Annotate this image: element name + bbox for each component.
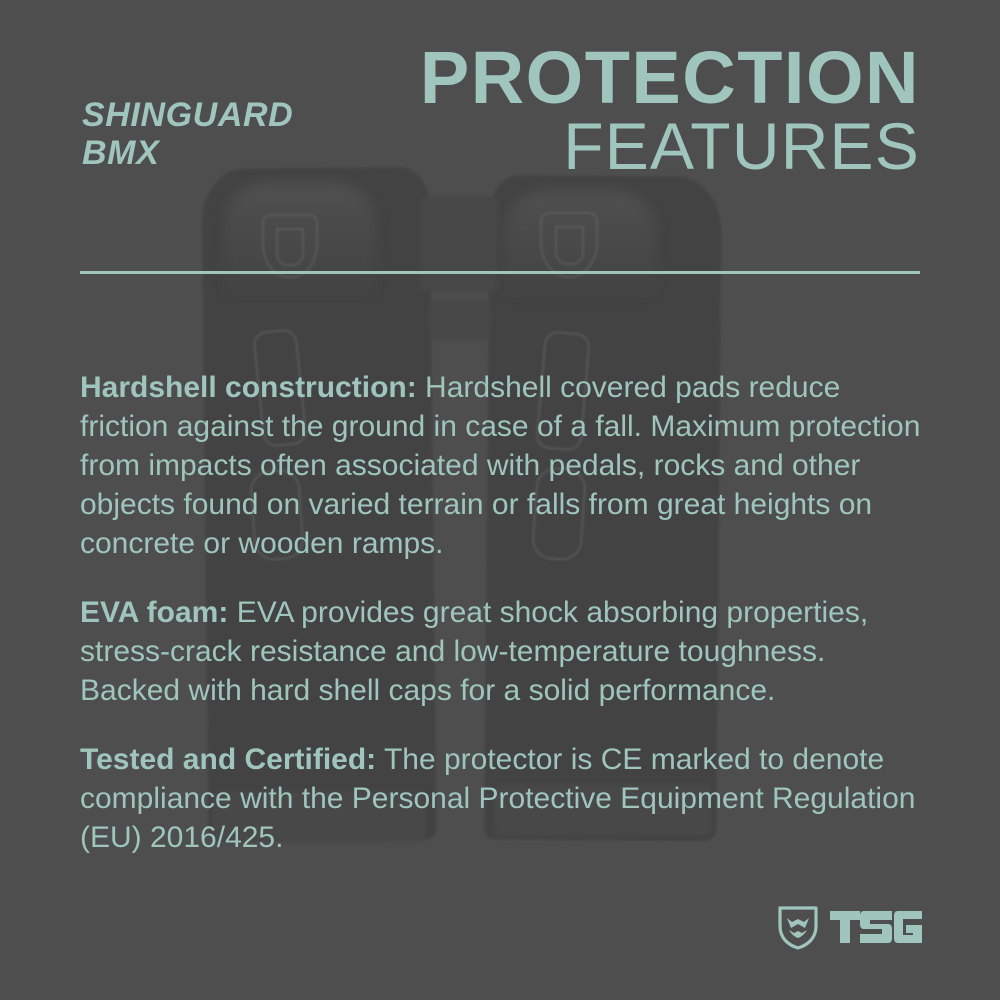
feature-term: Tested and Certified: [80,743,376,776]
tsg-shield-cat-icon [777,904,819,950]
protection-features-poster: SHINGUARD BMX PROTECTION FEATURES Hardsh… [0,0,1000,1000]
page-title: PROTECTION FEATURES [420,44,920,177]
brand-logo [777,904,922,950]
feature-list: Hardshell construction: Hardshell covere… [80,338,928,857]
feature-item-hardshell: Hardshell construction: Hardshell covere… [80,368,928,563]
feature-term: EVA foam: [80,596,228,629]
tsg-wordmark [830,909,922,945]
feature-item-tested-certified: Tested and Certified: The protector is C… [80,740,928,857]
header-divider [80,271,920,274]
feature-item-eva-foam: EVA foam: EVA provides great shock absor… [80,593,928,710]
page-title-primary: PROTECTION [420,44,920,112]
page-title-secondary: FEATURES [420,116,920,177]
product-name: SHINGUARD BMX [82,96,293,172]
feature-term: Hardshell construction: [80,371,417,404]
